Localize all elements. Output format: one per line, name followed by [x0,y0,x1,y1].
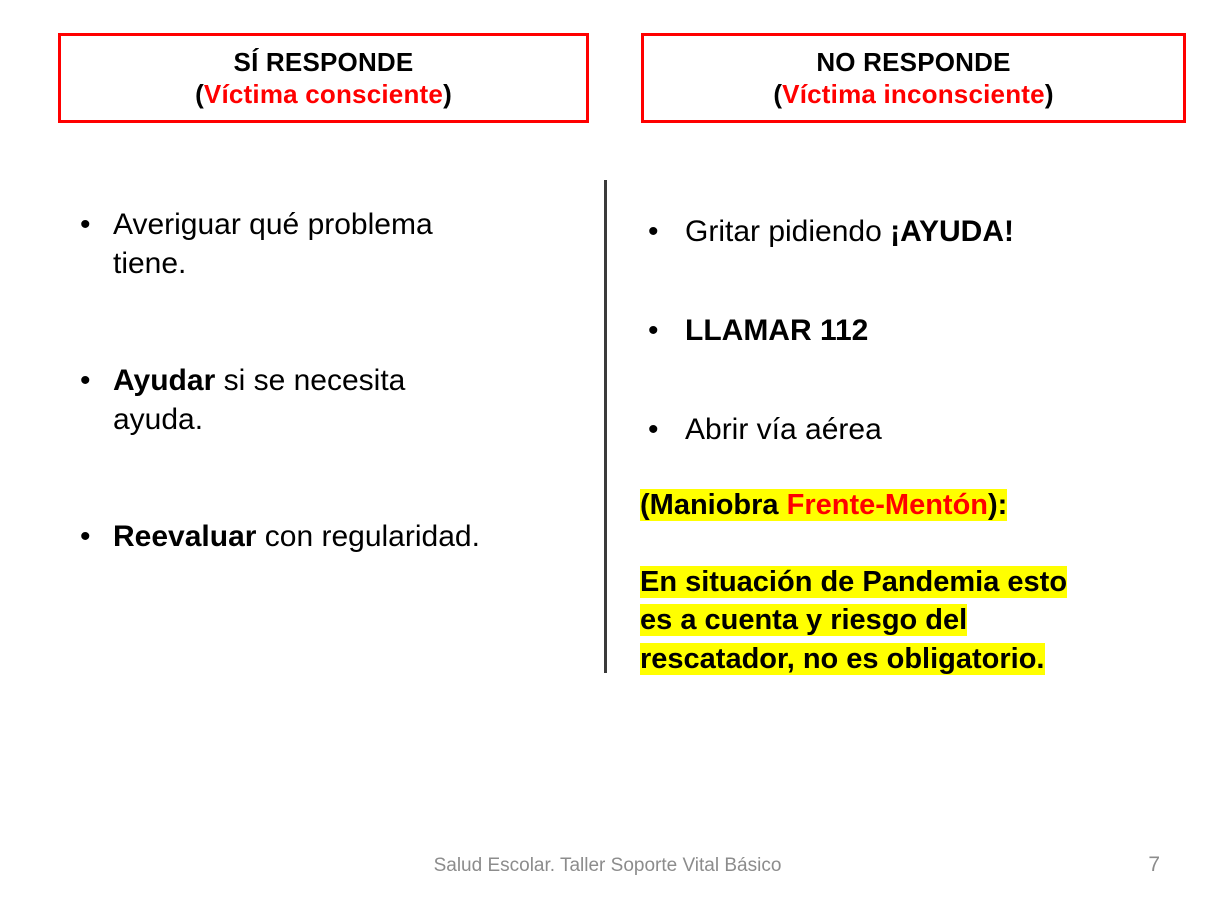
list-item-gritar-text: Gritar pidiendo [685,215,890,248]
list-item-llamar-112: LLAMAR 112 [640,311,1185,350]
header-box-no-responde: NO RESPONDE (Víctima inconsciente) [641,33,1186,123]
header-left-subtitle: (Víctima consciente) [195,79,452,110]
header-right-paren-close: ) [1045,79,1054,109]
spacer-2 [70,439,590,517]
left-column-list: Averiguar qué problema tiene. Ayudar si … [70,205,590,556]
list-item-llamar-bold: LLAMAR 112 [685,314,868,347]
pandemia-line-1-text: En situación de Pandemia esto [640,566,1067,598]
pandemia-line-2-text: es a cuenta y riesgo del [640,604,967,636]
footer-caption: Salud Escolar. Taller Soporte Vital Bási… [0,855,1215,877]
maniobra-close: ): [988,489,1007,521]
header-right-subtitle-emphasis: Víctima inconsciente [782,79,1045,109]
list-item-reevaluar-text: con regularidad. [256,520,479,553]
list-item-gritar: Gritar pidiendo ¡AYUDA! [640,212,1185,251]
slide-canvas: SÍ RESPONDE (Víctima consciente) NO RESP… [0,0,1215,911]
spacer-6 [640,525,1185,563]
list-item-ayudar-bold: Ayudar [113,364,215,397]
list-item-gritar-bold: ¡AYUDA! [890,215,1014,248]
header-left-subtitle-emphasis: Víctima consciente [204,79,443,109]
header-left-paren-open: ( [195,79,204,109]
pandemia-line-1: En situación de Pandemia esto [640,563,1185,602]
spacer-3 [640,251,1185,311]
pandemia-highlight-block: En situación de Pandemia estoes a cuenta… [640,563,1185,679]
pandemia-line-2: es a cuenta y riesgo del [640,601,1185,640]
spacer-5 [640,449,1185,487]
maniobra-highlight-line: (Maniobra Frente-Mentón): [640,487,1185,525]
column-divider-line [604,180,607,673]
list-item-reevaluar-bold: Reevaluar [113,520,256,553]
spacer-1 [70,283,590,361]
header-right-paren-open: ( [773,79,782,109]
list-item-ayudar: Ayudar si se necesita ayuda. [70,361,590,439]
list-item-reevaluar: Reevaluar con regularidad. [70,517,590,556]
maniobra-emphasis: Frente-Mentón [787,489,988,521]
maniobra-open: (Maniobra [640,489,787,521]
list-item-ayudar-text: si se necesita [215,364,405,397]
header-box-responde: SÍ RESPONDE (Víctima consciente) [58,33,589,123]
list-item-averiguar: Averiguar qué problema tiene. [70,205,590,283]
header-right-subtitle: (Víctima inconsciente) [773,79,1053,110]
list-item-averiguar-lastline: tiene. [113,244,590,283]
list-item-ayudar-lastline: ayuda. [113,400,590,439]
list-item-averiguar-text: Averiguar qué problema [113,208,433,241]
pandemia-line-3: rescatador, no es obligatorio. [640,640,1185,679]
list-item-abrir-text: Abrir vía aérea [685,413,882,446]
list-item-abrir-via-aerea: Abrir vía aérea [640,410,1185,449]
header-right-title: NO RESPONDE [816,47,1010,78]
spacer-4 [640,350,1185,410]
page-number: 7 [1148,853,1160,877]
header-left-title: SÍ RESPONDE [234,47,414,78]
right-column-list: Gritar pidiendo ¡AYUDA! LLAMAR 112 Abrir… [640,212,1185,678]
maniobra-highlight-wrapper: (Maniobra Frente-Mentón): [640,489,1007,521]
header-left-paren-close: ) [443,79,452,109]
pandemia-line-3-text: rescatador, no es obligatorio. [640,643,1045,675]
